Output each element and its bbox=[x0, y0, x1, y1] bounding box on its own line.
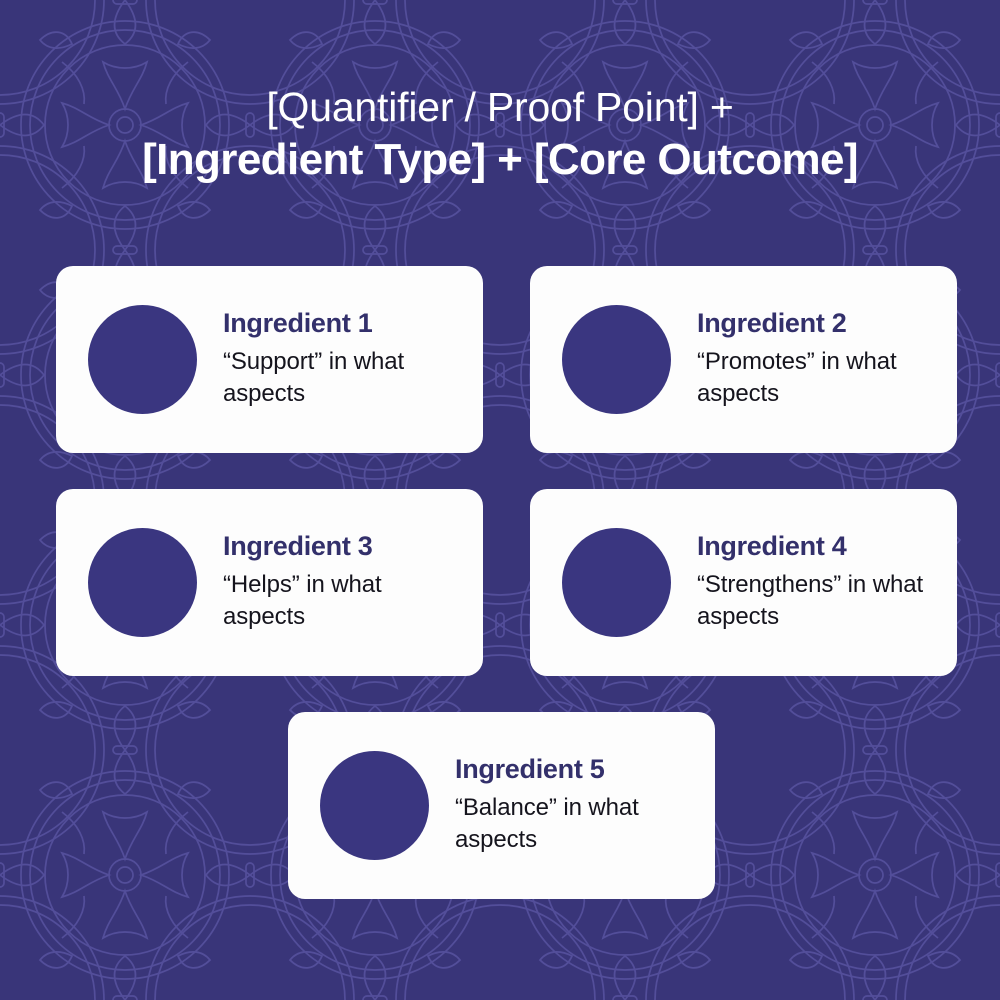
ingredient-card-3-body: Ingredient 3 “Helps” in what aspects bbox=[197, 531, 465, 634]
page-title: [Quantifier / Proof Point] + [Ingredient… bbox=[0, 84, 1000, 185]
ingredient-card-5-title: Ingredient 5 bbox=[455, 754, 693, 785]
ingredient-card-2[interactable]: Ingredient 2 “Promotes” in what aspects bbox=[530, 266, 957, 453]
filled-circle-icon bbox=[562, 305, 671, 414]
ingredient-card-4-title: Ingredient 4 bbox=[697, 531, 935, 562]
ingredient-card-1[interactable]: Ingredient 1 “Support” in what aspects bbox=[56, 266, 483, 453]
ingredient-card-3-description: “Helps” in what aspects bbox=[223, 569, 461, 632]
filled-circle-icon bbox=[88, 528, 197, 637]
filled-circle-icon bbox=[88, 305, 197, 414]
ingredient-card-1-title: Ingredient 1 bbox=[223, 308, 461, 339]
ingredient-card-2-title: Ingredient 2 bbox=[697, 308, 935, 339]
ingredient-card-1-body: Ingredient 1 “Support” in what aspects bbox=[197, 308, 465, 411]
ingredient-card-5[interactable]: Ingredient 5 “Balance” in what aspects bbox=[288, 712, 715, 899]
ingredient-card-5-description: “Balance” in what aspects bbox=[455, 792, 693, 855]
page-title-line-1: [Quantifier / Proof Point] + bbox=[0, 84, 1000, 131]
ingredient-card-3[interactable]: Ingredient 3 “Helps” in what aspects bbox=[56, 489, 483, 676]
ingredient-card-2-body: Ingredient 2 “Promotes” in what aspects bbox=[671, 308, 939, 411]
content-stage: [Quantifier / Proof Point] + [Ingredient… bbox=[0, 0, 1000, 1000]
ingredient-card-1-description: “Support” in what aspects bbox=[223, 346, 461, 409]
ingredient-card-4[interactable]: Ingredient 4 “Strengthens” in what aspec… bbox=[530, 489, 957, 676]
filled-circle-icon bbox=[320, 751, 429, 860]
page-title-line-2: [Ingredient Type] + [Core Outcome] bbox=[0, 135, 1000, 185]
ingredient-card-4-description: “Strengthens” in what aspects bbox=[697, 569, 935, 632]
ingredient-card-5-body: Ingredient 5 “Balance” in what aspects bbox=[429, 754, 697, 857]
ingredient-card-4-body: Ingredient 4 “Strengthens” in what aspec… bbox=[671, 531, 939, 634]
ingredient-card-3-title: Ingredient 3 bbox=[223, 531, 461, 562]
ingredient-card-2-description: “Promotes” in what aspects bbox=[697, 346, 935, 409]
filled-circle-icon bbox=[562, 528, 671, 637]
